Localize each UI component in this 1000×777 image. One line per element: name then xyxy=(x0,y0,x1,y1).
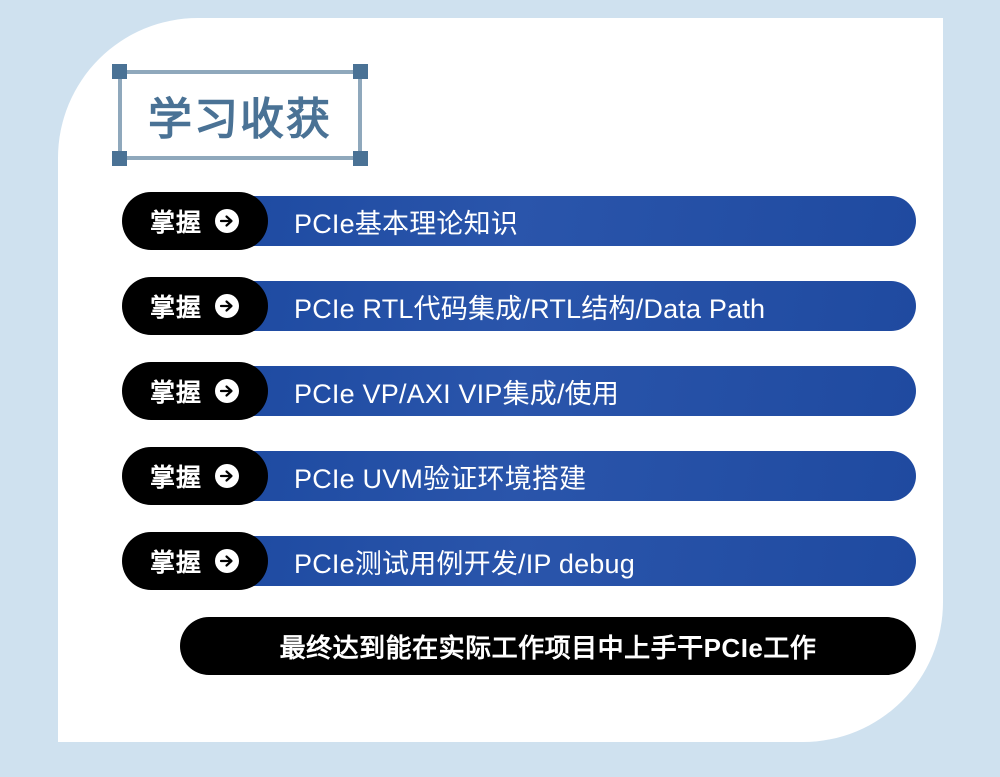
master-badge: 掌握 xyxy=(122,362,268,420)
content-card: 学习收获 掌握 PCIe基本理论知识 掌握 xyxy=(58,18,943,742)
summary-bar: 最终达到能在实际工作项目中上手干PCIe工作 xyxy=(180,617,916,675)
master-badge: 掌握 xyxy=(122,447,268,505)
master-badge: 掌握 xyxy=(122,277,268,335)
summary-text: 最终达到能在实际工作项目中上手干PCIe工作 xyxy=(280,628,817,665)
master-badge-label: 掌握 xyxy=(150,203,202,239)
arrow-right-circle-icon xyxy=(214,463,240,489)
learning-outcomes-list: 掌握 PCIe基本理论知识 掌握 xyxy=(122,192,922,675)
master-badge: 掌握 xyxy=(122,532,268,590)
master-badge-label: 掌握 xyxy=(150,373,202,409)
outcome-text: PCIe VP/AXI VIP集成/使用 xyxy=(294,362,619,420)
list-item: 掌握 PCIe测试用例开发/IP debug xyxy=(122,532,922,590)
master-badge-label: 掌握 xyxy=(150,543,202,579)
arrow-right-circle-icon xyxy=(214,208,240,234)
list-item: 掌握 PCIe UVM验证环境搭建 xyxy=(122,447,922,505)
arrow-right-circle-icon xyxy=(214,293,240,319)
master-badge-label: 掌握 xyxy=(150,288,202,324)
summary-row: 最终达到能在实际工作项目中上手干PCIe工作 xyxy=(122,617,922,675)
outcome-text: PCIe基本理论知识 xyxy=(294,192,518,250)
master-badge: 掌握 xyxy=(122,192,268,250)
section-title-frame: 学习收获 xyxy=(118,70,362,160)
list-item: 掌握 PCIe基本理论知识 xyxy=(122,192,922,250)
arrow-right-circle-icon xyxy=(214,378,240,404)
page-title: 学习收获 xyxy=(118,70,362,160)
outcome-text: PCIe RTL代码集成/RTL结构/Data Path xyxy=(294,277,765,335)
master-badge-label: 掌握 xyxy=(150,458,202,494)
outcome-text: PCIe测试用例开发/IP debug xyxy=(294,532,635,590)
arrow-right-circle-icon xyxy=(214,548,240,574)
list-item: 掌握 PCIe VP/AXI VIP集成/使用 xyxy=(122,362,922,420)
list-item: 掌握 PCIe RTL代码集成/RTL结构/Data Path xyxy=(122,277,922,335)
outcome-text: PCIe UVM验证环境搭建 xyxy=(294,447,586,505)
